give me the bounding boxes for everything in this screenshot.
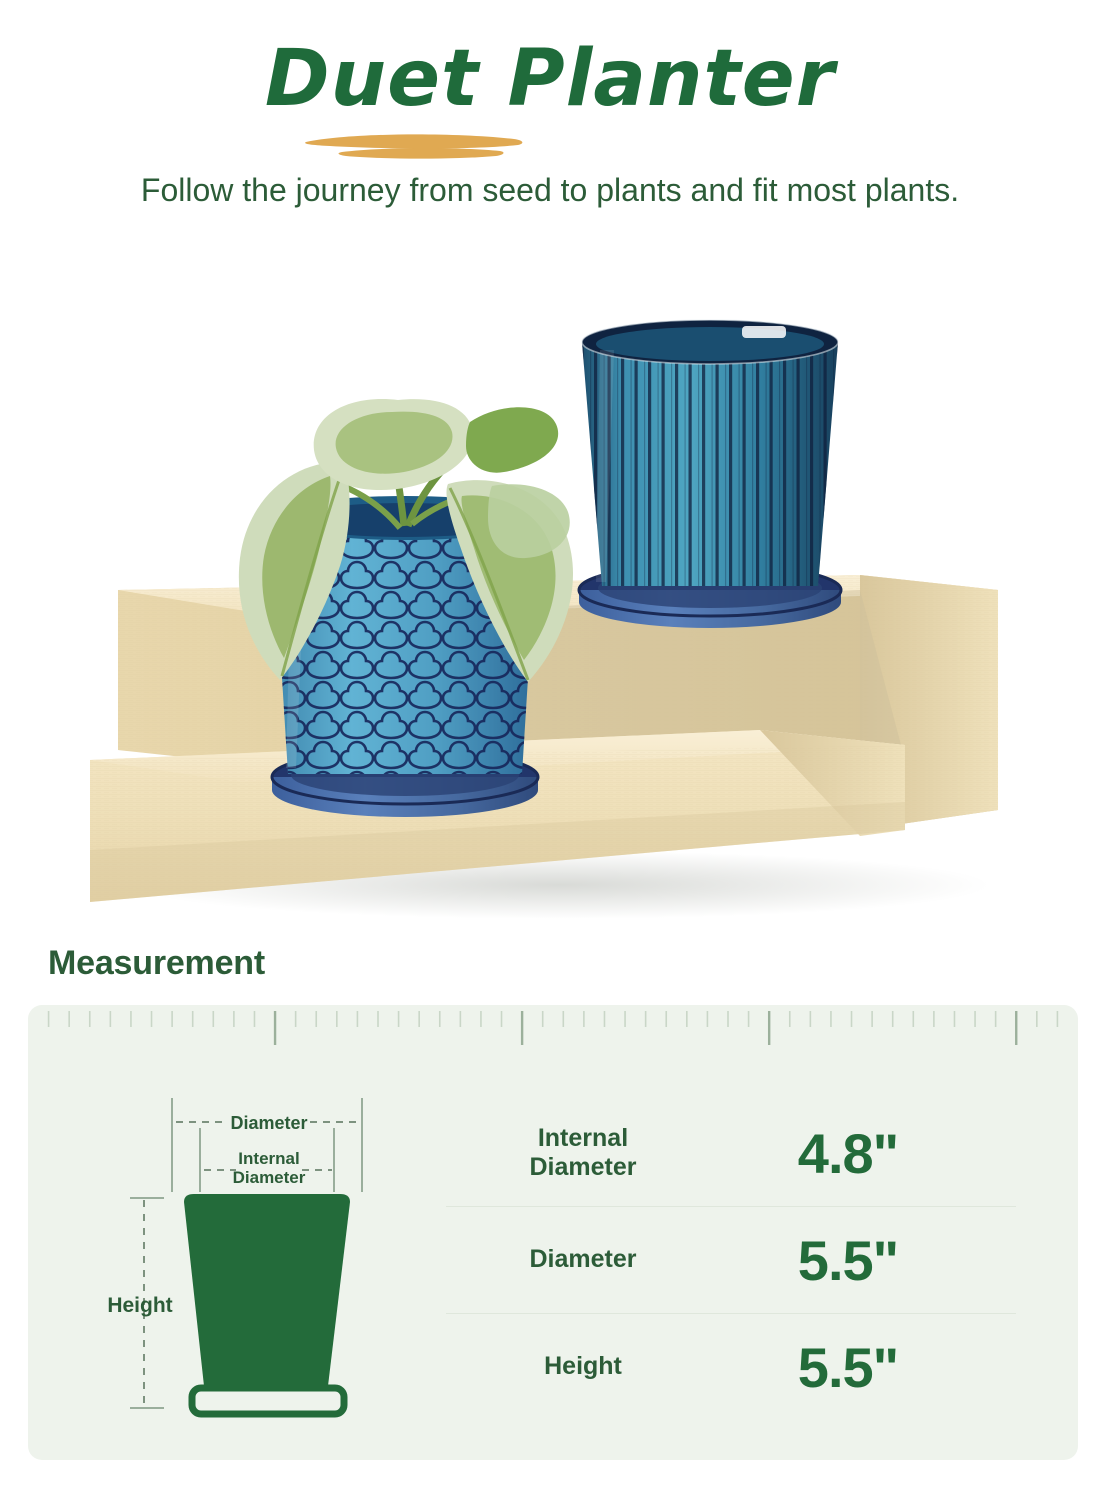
fluted-planter — [575, 320, 850, 628]
fluted-planter-specular-highlight — [742, 326, 786, 338]
pot-body — [184, 1194, 350, 1394]
pot-saucer — [192, 1388, 344, 1414]
diagram-label-internal-diameter-line2: Diameter — [233, 1168, 306, 1187]
table-row: Internal Diameter 4.8" — [428, 1100, 1028, 1206]
product-photo — [0, 290, 1100, 920]
row-label-diameter: Diameter — [448, 1207, 718, 1313]
row-label-line2: Diameter — [530, 1153, 637, 1181]
row-label-height: Height — [448, 1314, 718, 1420]
pot-dimension-diagram: Diameter Internal Diameter Height — [88, 1080, 448, 1425]
row-label-internal-diameter: Internal Diameter — [448, 1100, 718, 1206]
product-infographic: Duet Planter Follow the journey from see… — [0, 0, 1100, 1500]
ruler-strip — [28, 1005, 1078, 1051]
product-photo-illustration — [0, 290, 1100, 920]
measurement-heading: Measurement — [48, 944, 265, 983]
measurement-table: Internal Diameter 4.8" Diameter 5.5" Hei… — [428, 1100, 1028, 1420]
page-subtitle: Follow the journey from seed to plants a… — [140, 170, 960, 212]
diagram-label-height: Height — [107, 1294, 172, 1317]
fluted-planter-ribs — [575, 335, 850, 595]
row-value-height: 5.5" — [728, 1314, 968, 1420]
page-title: Duet Planter — [0, 40, 1100, 118]
diagram-label-diameter: Diameter — [230, 1113, 307, 1133]
header: Duet Planter Follow the journey from see… — [0, 0, 1100, 300]
row-value-diameter: 5.5" — [728, 1207, 968, 1313]
table-row: Height 5.5" — [428, 1314, 1028, 1420]
row-value-internal-diameter: 4.8" — [728, 1100, 968, 1206]
measurement-panel: Diameter Internal Diameter Height — [28, 1005, 1078, 1460]
table-row: Diameter 5.5" — [428, 1207, 1028, 1313]
leaf — [466, 407, 558, 472]
title-underline-swash — [300, 128, 540, 164]
row-label-line1: Internal — [538, 1124, 628, 1152]
diagram-label-internal-diameter-line1: Internal — [238, 1149, 299, 1168]
patterned-planter-group — [239, 399, 573, 817]
